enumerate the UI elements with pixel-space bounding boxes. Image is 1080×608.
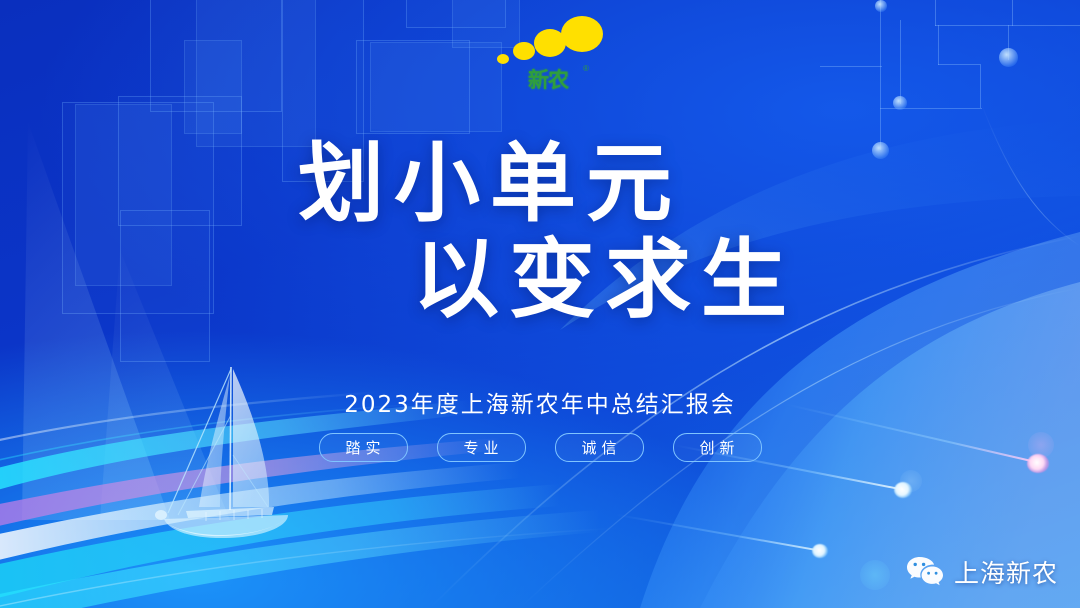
poster-canvas: 新农 ® 划小单元 以变求生 2023年度上海新农年中总结汇报会 踏实 专业 诚… — [0, 0, 1080, 608]
circuit-trace — [935, 0, 936, 26]
geo-rect — [75, 104, 172, 286]
circuit-node-icon — [872, 142, 889, 159]
logo-dot-4-icon — [561, 16, 603, 52]
circuit-trace — [820, 66, 882, 67]
geo-rect — [370, 42, 502, 132]
logo-trademark: ® — [583, 64, 589, 73]
circuit-node-icon — [999, 48, 1018, 67]
wechat-footer: 上海新农 — [905, 554, 1058, 590]
logo-wordmark: 新农 — [515, 66, 581, 92]
geo-rect — [196, 0, 316, 147]
geo-rect — [356, 40, 470, 134]
circuit-node-icon — [875, 0, 887, 12]
geo-rect — [184, 40, 242, 134]
subtitle-text: 2023年度上海新农年中总结汇报会 — [0, 385, 1080, 419]
xinnong-logo: 新农 ® — [493, 12, 603, 104]
wechat-account-name: 上海新农 — [954, 554, 1058, 590]
geo-rect — [406, 0, 506, 28]
circuit-trace — [1012, 0, 1013, 26]
headline-block: 划小单元 以变求生 — [0, 140, 1080, 323]
geo-rect — [120, 210, 210, 362]
value-tag-3: 诚信 — [555, 433, 644, 462]
value-tag-group: 踏实 专业 诚信 创新 — [0, 433, 1080, 462]
geo-rect — [282, 0, 364, 182]
wechat-icon — [905, 555, 945, 589]
circuit-trace — [1008, 25, 1009, 60]
value-tag-2: 专业 — [437, 433, 526, 462]
geo-rect — [62, 102, 214, 314]
headline-line-2: 以变求生 — [130, 236, 1080, 324]
circuit-trace — [938, 64, 980, 65]
circuit-trace — [880, 108, 982, 109]
circuit-trace — [980, 64, 981, 108]
headline-line-1: 划小单元 — [0, 140, 1080, 228]
bokeh-dot — [860, 560, 890, 590]
logo-dot-1-icon — [497, 54, 509, 64]
circuit-trace — [935, 25, 1080, 26]
value-tag-4: 创新 — [673, 433, 762, 462]
bokeh-dot — [900, 470, 922, 492]
geo-rect — [150, 0, 282, 112]
circuit-trace — [880, 0, 881, 150]
geo-rect — [118, 96, 242, 226]
circuit-trace — [900, 20, 901, 104]
circuit-node-icon — [893, 96, 907, 110]
value-tag-1: 踏实 — [319, 433, 408, 462]
circuit-trace — [938, 25, 939, 65]
logo-dot-2-icon — [513, 42, 535, 60]
